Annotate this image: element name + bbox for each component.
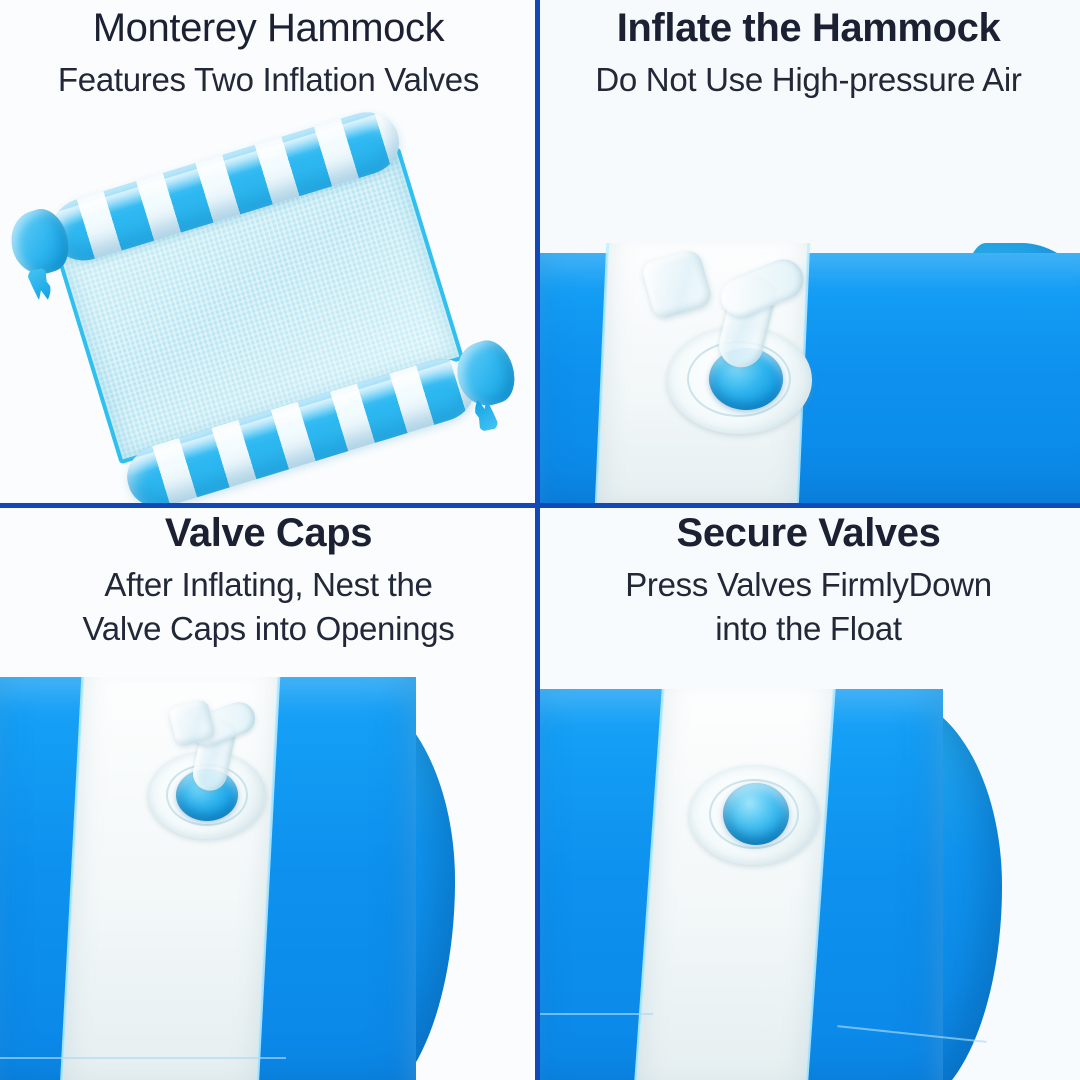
caption-bottom-left: Valve Caps After Inflating, Nest the Val… xyxy=(0,505,537,650)
hammock-illustration xyxy=(0,118,537,505)
instruction-grid: Monterey Hammock Features Two Inflation … xyxy=(0,0,1080,1080)
caption-bottom-right: Secure Valves Press Valves FirmlyDown in… xyxy=(537,505,1080,650)
panel-title: Secure Valves xyxy=(537,513,1080,553)
panel-subtitle: After Inflating, Nest the Valve Caps int… xyxy=(0,563,537,650)
panel-subtitle: Do Not Use High-pressure Air xyxy=(537,58,1080,102)
hammock-body xyxy=(5,89,519,505)
panel-title: Inflate the Hammock xyxy=(537,8,1080,48)
valve-nested-illustration xyxy=(0,665,537,1080)
float-white-band xyxy=(61,677,279,1080)
caption-top-right: Inflate the Hammock Do Not Use High-pres… xyxy=(537,0,1080,102)
valve-secured-illustration xyxy=(537,665,1080,1080)
panel-subtitle: Press Valves FirmlyDown into the Float xyxy=(537,563,1080,650)
panel-title: Monterey Hammock xyxy=(0,8,537,48)
panel-title: Valve Caps xyxy=(0,513,537,553)
panel-bottom-right: Secure Valves Press Valves FirmlyDown in… xyxy=(537,505,1080,1080)
panel-bottom-left: Valve Caps After Inflating, Nest the Val… xyxy=(0,505,537,1080)
panel-top-left: Monterey Hammock Features Two Inflation … xyxy=(0,0,537,505)
panel-subtitle: Features Two Inflation Valves xyxy=(0,58,537,102)
valve-plug-seated xyxy=(723,783,789,845)
float-white-band xyxy=(634,689,833,1080)
panel-top-right: Inflate the Hammock Do Not Use High-pres… xyxy=(537,0,1080,505)
caption-top-left: Monterey Hammock Features Two Inflation … xyxy=(0,0,537,102)
